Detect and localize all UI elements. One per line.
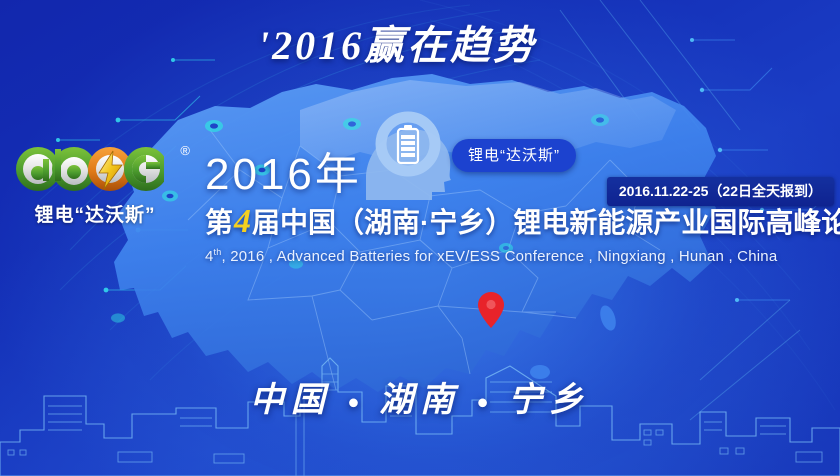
title-cn-prefix: 第 <box>205 207 233 238</box>
title-en-ordinal: 4 <box>205 248 214 265</box>
conference-title-en: 4th, 2016 , Advanced Batteries for xEV/E… <box>205 247 840 266</box>
abec-logo-icon <box>14 143 164 195</box>
map-pin-icon <box>478 292 504 328</box>
location-line: 中国 ● 湖南 ● 宁乡 <box>0 372 840 421</box>
abec-logo-block[interactable]: ® 锂电“达沃斯” <box>14 142 196 227</box>
registered-trademark-icon: ® <box>180 144 190 157</box>
title-cn-suffix: 届中国（湖南·宁乡）锂电新能源产业国际高峰论坛 <box>252 207 840 238</box>
conference-banner: '2016赢在趋势 <box>0 0 840 476</box>
location-part-country: 中国 <box>250 382 332 419</box>
conference-title-cn: 第4届中国（湖南·宁乡）锂电新能源产业国际高峰论坛 <box>205 202 840 241</box>
year-line: 2016年 <box>205 152 840 198</box>
main-text-block: 2016年 第4届中国（湖南·宁乡）锂电新能源产业国际高峰论坛 4th, 201… <box>205 152 840 266</box>
calligraphy-headline: '2016赢在趋势 <box>258 26 536 66</box>
logo-subtitle: 锂电“达沃斯” <box>14 200 176 227</box>
logo-wordmark-row: ® <box>14 142 196 196</box>
bullet-separator-icon-2: ● <box>477 392 493 414</box>
bullet-separator-icon: ● <box>347 392 363 414</box>
location-part-province: 湖南 <box>379 382 461 419</box>
location-part-city: 宁乡 <box>508 382 590 419</box>
edition-number: 4 <box>233 203 252 240</box>
title-en-rest: , 2016 , Advanced Batteries for xEV/ESS … <box>221 248 777 265</box>
